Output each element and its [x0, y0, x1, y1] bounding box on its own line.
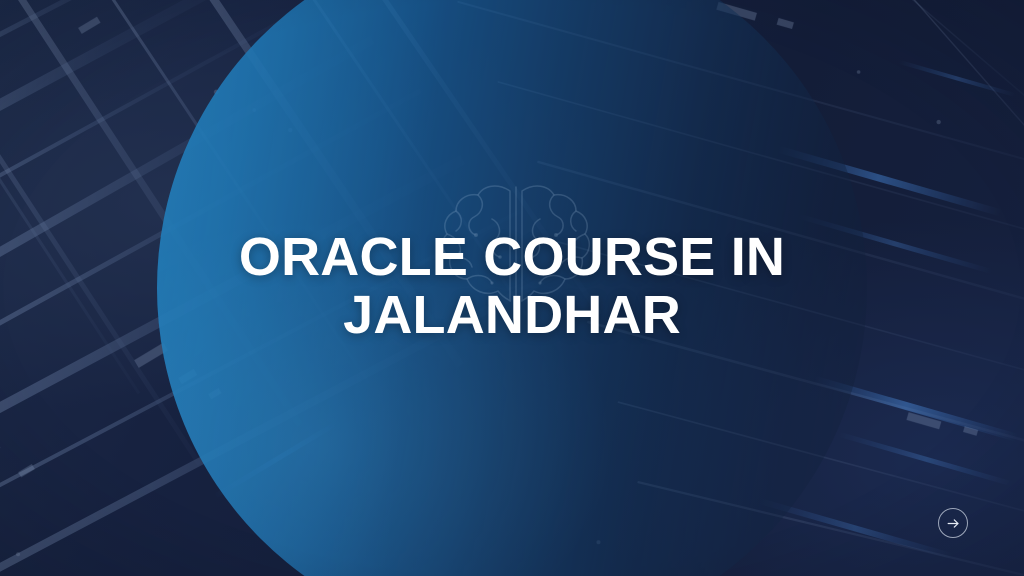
- arrow-right-icon: [946, 516, 961, 531]
- slide-canvas: ORACLE COURSE IN JALANDHAR: [0, 0, 1024, 576]
- title-line-1: ORACLE COURSE IN: [0, 228, 1024, 286]
- next-slide-button[interactable]: [938, 508, 968, 538]
- title-line-2: JALANDHAR: [0, 286, 1024, 344]
- page-title: ORACLE COURSE IN JALANDHAR: [0, 228, 1024, 344]
